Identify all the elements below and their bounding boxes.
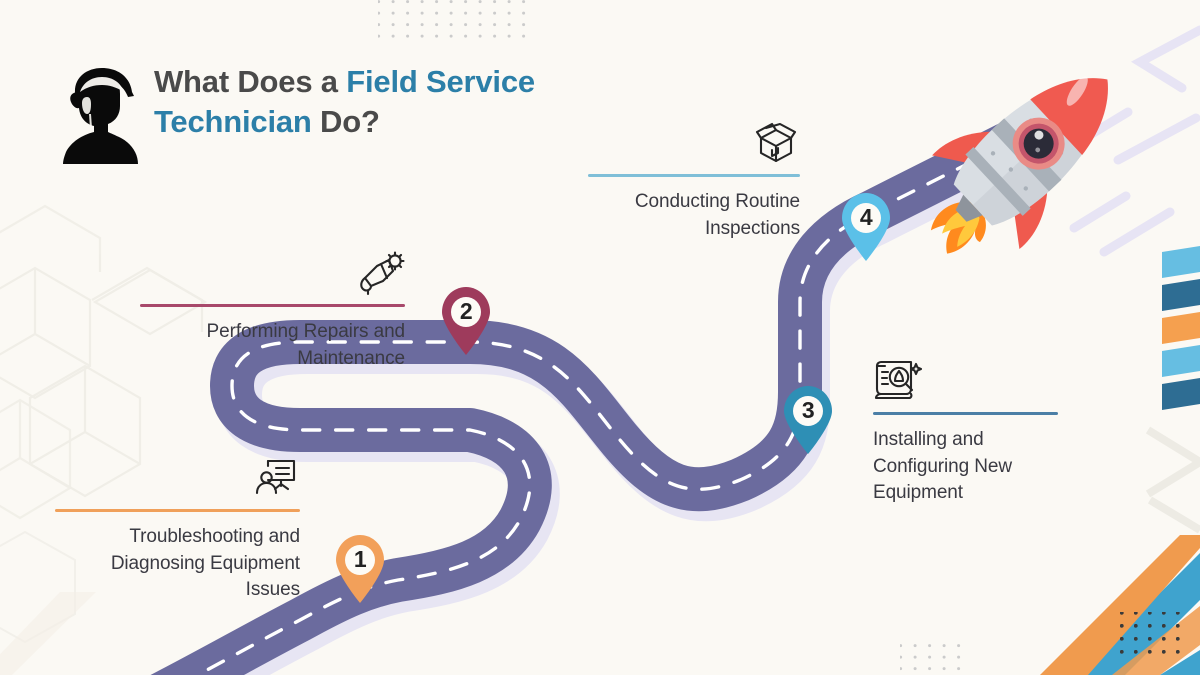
title-text-plain-2: Do? xyxy=(312,104,380,139)
presentation-board-person-icon xyxy=(254,455,300,501)
header: What Does a Field Service Technician Do? xyxy=(62,62,535,164)
step-3-rule xyxy=(873,412,1058,415)
step-2-rule xyxy=(140,304,405,307)
step-4-label: Conducting Routine Inspections xyxy=(588,189,800,242)
map-pin-1[interactable]: 1 xyxy=(333,534,387,604)
infographic-canvas: What Does a Field Service Technician Do? xyxy=(0,0,1200,675)
megaphone-gear-icon xyxy=(357,250,405,296)
pin-4-number: 4 xyxy=(839,202,893,232)
step-4-rule xyxy=(588,174,800,177)
title-text-accent-2: Technician xyxy=(154,104,312,139)
pin-1-number: 1 xyxy=(333,544,387,574)
title-line-1: What Does a Field Service xyxy=(154,62,535,102)
step-item-2[interactable]: Performing Repairs and Maintenance xyxy=(140,250,405,372)
step-item-3[interactable]: Installing and Configuring New Equipment xyxy=(873,358,1058,507)
title-line-2: Technician Do? xyxy=(154,102,535,142)
open-box-icon xyxy=(752,120,800,166)
worker-silhouette-icon xyxy=(62,66,140,164)
step-item-1[interactable]: Troubleshooting and Diagnosing Equipment… xyxy=(55,455,300,604)
step-item-4[interactable]: Conducting Routine Inspections xyxy=(588,120,800,242)
map-pin-2[interactable]: 2 xyxy=(439,286,493,356)
step-1-icon-row xyxy=(55,455,300,501)
rocket-icon xyxy=(925,42,1145,257)
step-3-icon-row xyxy=(873,358,1058,404)
map-pin-4[interactable]: 4 xyxy=(839,192,893,262)
map-pin-3[interactable]: 3 xyxy=(781,385,835,455)
step-1-rule xyxy=(55,509,300,512)
step-3-label: Installing and Configuring New Equipment xyxy=(873,427,1058,507)
scroll-magnifier-icon xyxy=(873,358,925,404)
step-2-label: Performing Repairs and Maintenance xyxy=(140,319,405,372)
step-1-label: Troubleshooting and Diagnosing Equipment… xyxy=(55,524,300,604)
pin-3-number: 3 xyxy=(781,395,835,425)
title-text-plain-1: What Does a xyxy=(154,64,346,99)
step-2-icon-row xyxy=(140,250,405,296)
page-title: What Does a Field Service Technician Do? xyxy=(154,62,535,141)
pin-2-number: 2 xyxy=(439,296,493,326)
step-4-icon-row xyxy=(588,120,800,166)
title-text-accent-1: Field Service xyxy=(346,64,535,99)
